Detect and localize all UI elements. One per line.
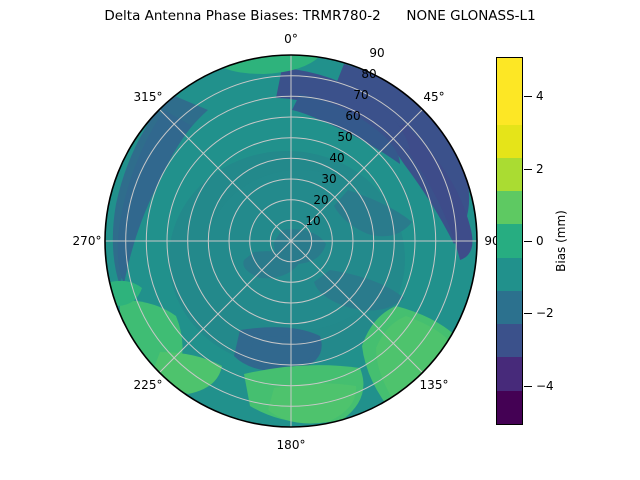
radial-tick-50: 50 bbox=[337, 130, 352, 144]
colorbar-ticklabel-2: 2 bbox=[536, 162, 544, 176]
radial-tick-40: 40 bbox=[329, 151, 344, 165]
angle-tick-225: 225° bbox=[134, 378, 163, 392]
colorbar-segment bbox=[497, 391, 522, 424]
colorbar-tick-0 bbox=[524, 241, 532, 242]
angle-tick-135: 135° bbox=[420, 378, 449, 392]
radial-tick-30: 30 bbox=[321, 172, 336, 186]
angle-tick-0: 0° bbox=[284, 32, 298, 46]
polar-grid-spokes bbox=[105, 55, 477, 427]
colorbar-segment bbox=[497, 357, 522, 390]
polar-plot-svg bbox=[104, 54, 478, 428]
angle-tick-270: 270° bbox=[73, 234, 102, 248]
colorbar-ticklabel-0: 0 bbox=[536, 234, 544, 248]
colorbar-ticklabel-m2: −2 bbox=[536, 306, 554, 320]
angle-tick-180: 180° bbox=[277, 438, 306, 452]
radial-tick-60: 60 bbox=[345, 109, 360, 123]
radial-tick-20: 20 bbox=[313, 193, 328, 207]
colorbar-ticklabel-4: 4 bbox=[536, 89, 544, 103]
colorbar-axis-label: Bias (mm) bbox=[554, 210, 568, 272]
colorbar-segment bbox=[497, 224, 522, 257]
colorbar-tick-m4 bbox=[524, 386, 532, 387]
radial-tick-70: 70 bbox=[353, 88, 368, 102]
colorbar-segment bbox=[497, 191, 522, 224]
colorbar-segment bbox=[497, 58, 522, 91]
chart-title: Delta Antenna Phase Biases: TRMR780-2 NO… bbox=[0, 8, 640, 24]
colorbar-ticklabel-m4: −4 bbox=[536, 379, 554, 393]
colorbar-tick-4 bbox=[524, 96, 532, 97]
colorbar-tick-2 bbox=[524, 169, 532, 170]
colorbar-segment bbox=[497, 158, 522, 191]
colorbar-tick-m2 bbox=[524, 313, 532, 314]
radial-tick-90: 90 bbox=[369, 46, 384, 60]
angle-tick-45: 45° bbox=[423, 90, 444, 104]
colorbar-segment bbox=[497, 258, 522, 291]
colorbar-segment bbox=[497, 324, 522, 357]
colorbar bbox=[496, 57, 523, 425]
colorbar-segment bbox=[497, 91, 522, 124]
radial-tick-80: 80 bbox=[361, 67, 376, 81]
polar-axes: 10 20 30 40 50 60 70 80 90 bbox=[104, 54, 478, 428]
colorbar-segment bbox=[497, 291, 522, 324]
colorbar-segment bbox=[497, 125, 522, 158]
angle-tick-315: 315° bbox=[134, 90, 163, 104]
figure-canvas: Delta Antenna Phase Biases: TRMR780-2 NO… bbox=[0, 0, 640, 480]
radial-tick-10: 10 bbox=[305, 214, 320, 228]
